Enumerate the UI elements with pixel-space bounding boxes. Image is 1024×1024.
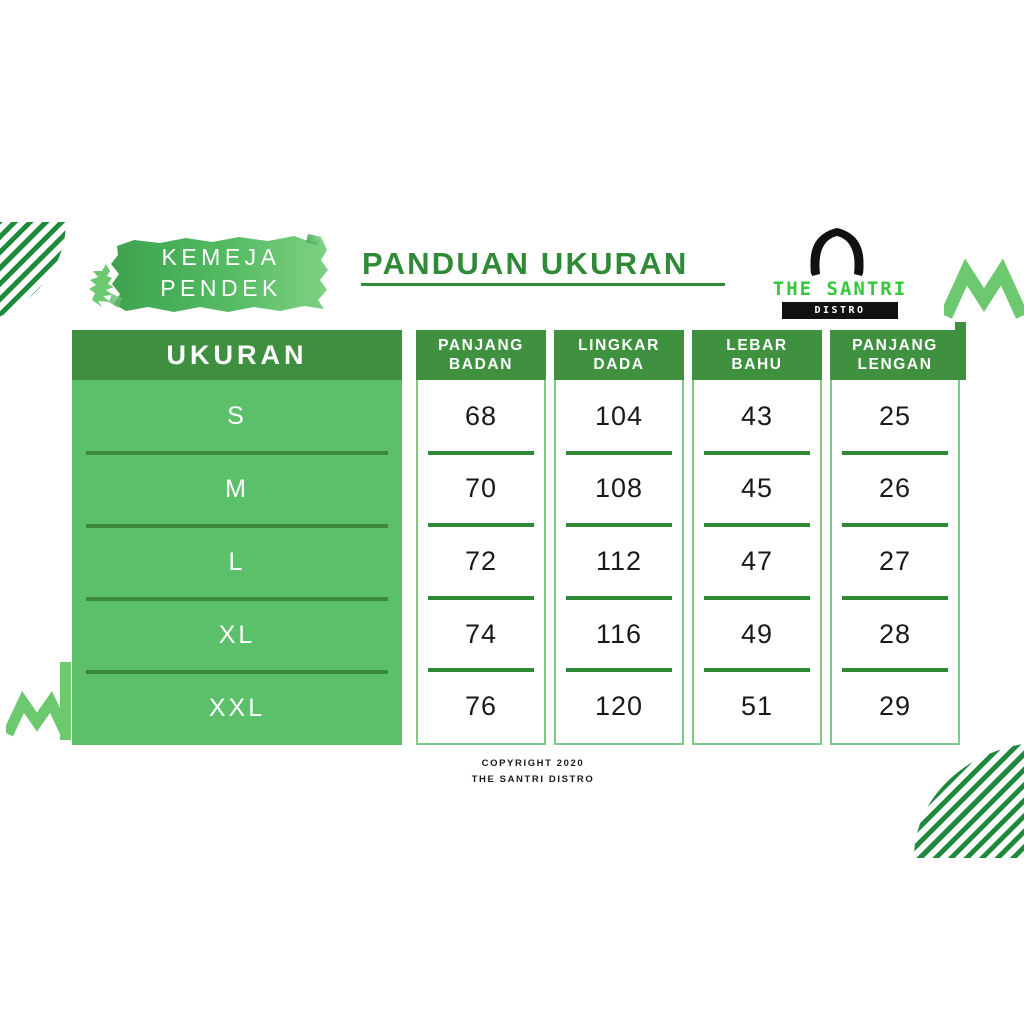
title-underline xyxy=(361,283,725,286)
size-cell: XXL xyxy=(72,672,402,745)
table-cell: 49 xyxy=(694,598,820,671)
table-cell: 29 xyxy=(832,670,958,743)
column-header-line-2: BADAN xyxy=(449,355,513,374)
column-header-line-1: LEBAR xyxy=(726,336,787,355)
table-cell: 72 xyxy=(418,525,544,598)
column-header-line-1: LINGKAR xyxy=(578,336,660,355)
column-header-line-2: BAHU xyxy=(731,355,782,374)
size-cell: S xyxy=(72,380,402,453)
size-cell: L xyxy=(72,526,402,599)
copyright-line-1: COPYRIGHT 2020 xyxy=(418,756,648,772)
table-cell: 70 xyxy=(418,453,544,526)
table-cell: 120 xyxy=(556,670,682,743)
size-cell: M xyxy=(72,453,402,526)
table-cell: 27 xyxy=(832,525,958,598)
column-header-line-2: LENGAN xyxy=(857,355,932,374)
column-header-line-1: PANJANG xyxy=(438,336,524,355)
table-cell: 51 xyxy=(694,670,820,743)
size-column: UKURAN S M L XL XXL xyxy=(72,330,402,745)
category-badge: KEMEJA PENDEK xyxy=(108,230,334,316)
page-title: PANDUAN UKURAN xyxy=(362,246,688,282)
table-cell: 74 xyxy=(418,598,544,671)
table-cell: 43 xyxy=(694,380,820,453)
column-body: 68 70 72 74 76 xyxy=(416,380,546,745)
brand-logo: THE SANTRI DISTRO xyxy=(760,224,920,324)
size-column-header: UKURAN xyxy=(72,330,402,380)
peci-cap-icon xyxy=(798,224,876,278)
size-chart-canvas: KEMEJA PENDEK PANDUAN UKURAN THE SANTRI … xyxy=(0,0,1024,1024)
table-cell: 25 xyxy=(832,380,958,453)
column-body: 43 45 47 49 51 xyxy=(692,380,822,745)
table-cell: 28 xyxy=(832,598,958,671)
measurement-column-lingkar-dada: LINGKAR DADA 104 108 112 116 120 xyxy=(554,330,684,745)
copyright-notice: COPYRIGHT 2020 THE SANTRI DISTRO xyxy=(418,756,648,788)
column-body: 104 108 112 116 120 xyxy=(554,380,684,745)
size-column-body: S M L XL XXL xyxy=(72,380,402,745)
table-cell: 76 xyxy=(418,670,544,743)
vertical-bar-left-icon xyxy=(60,662,71,740)
brand-name: THE SANTRI xyxy=(760,278,920,300)
measurement-column-panjang-lengan: PANJANG LENGAN 25 26 27 28 29 xyxy=(830,330,960,745)
table-cell: 45 xyxy=(694,453,820,526)
zigzag-right-icon xyxy=(944,258,1024,320)
column-header: PANJANG BADAN xyxy=(416,330,546,380)
measurement-column-panjang-badan: PANJANG BADAN 68 70 72 74 76 xyxy=(416,330,546,745)
column-header: LINGKAR DADA xyxy=(554,330,684,380)
table-cell: 108 xyxy=(556,453,682,526)
category-badge-text: KEMEJA PENDEK xyxy=(108,230,334,316)
column-header: PANJANG LENGAN xyxy=(830,330,960,380)
column-header: LEBAR BAHU xyxy=(692,330,822,380)
category-badge-line-2: PENDEK xyxy=(160,273,282,304)
striped-quarter-circle-bottom-right-icon xyxy=(914,742,1024,858)
column-header-line-2: DADA xyxy=(593,355,644,374)
table-cell: 26 xyxy=(832,453,958,526)
column-body: 25 26 27 28 29 xyxy=(830,380,960,745)
table-cell: 116 xyxy=(556,598,682,671)
table-cell: 104 xyxy=(556,380,682,453)
zigzag-left-icon xyxy=(6,690,68,738)
category-badge-line-1: KEMEJA xyxy=(161,242,280,273)
copyright-line-2: THE SANTRI DISTRO xyxy=(418,772,648,788)
measurement-column-lebar-bahu: LEBAR BAHU 43 45 47 49 51 xyxy=(692,330,822,745)
table-cell: 47 xyxy=(694,525,820,598)
table-cell: 68 xyxy=(418,380,544,453)
table-cell: 112 xyxy=(556,525,682,598)
size-cell: XL xyxy=(72,599,402,672)
striped-quarter-circle-top-left-icon xyxy=(0,222,66,330)
brand-subtitle: DISTRO xyxy=(782,302,898,319)
column-header-line-1: PANJANG xyxy=(852,336,938,355)
